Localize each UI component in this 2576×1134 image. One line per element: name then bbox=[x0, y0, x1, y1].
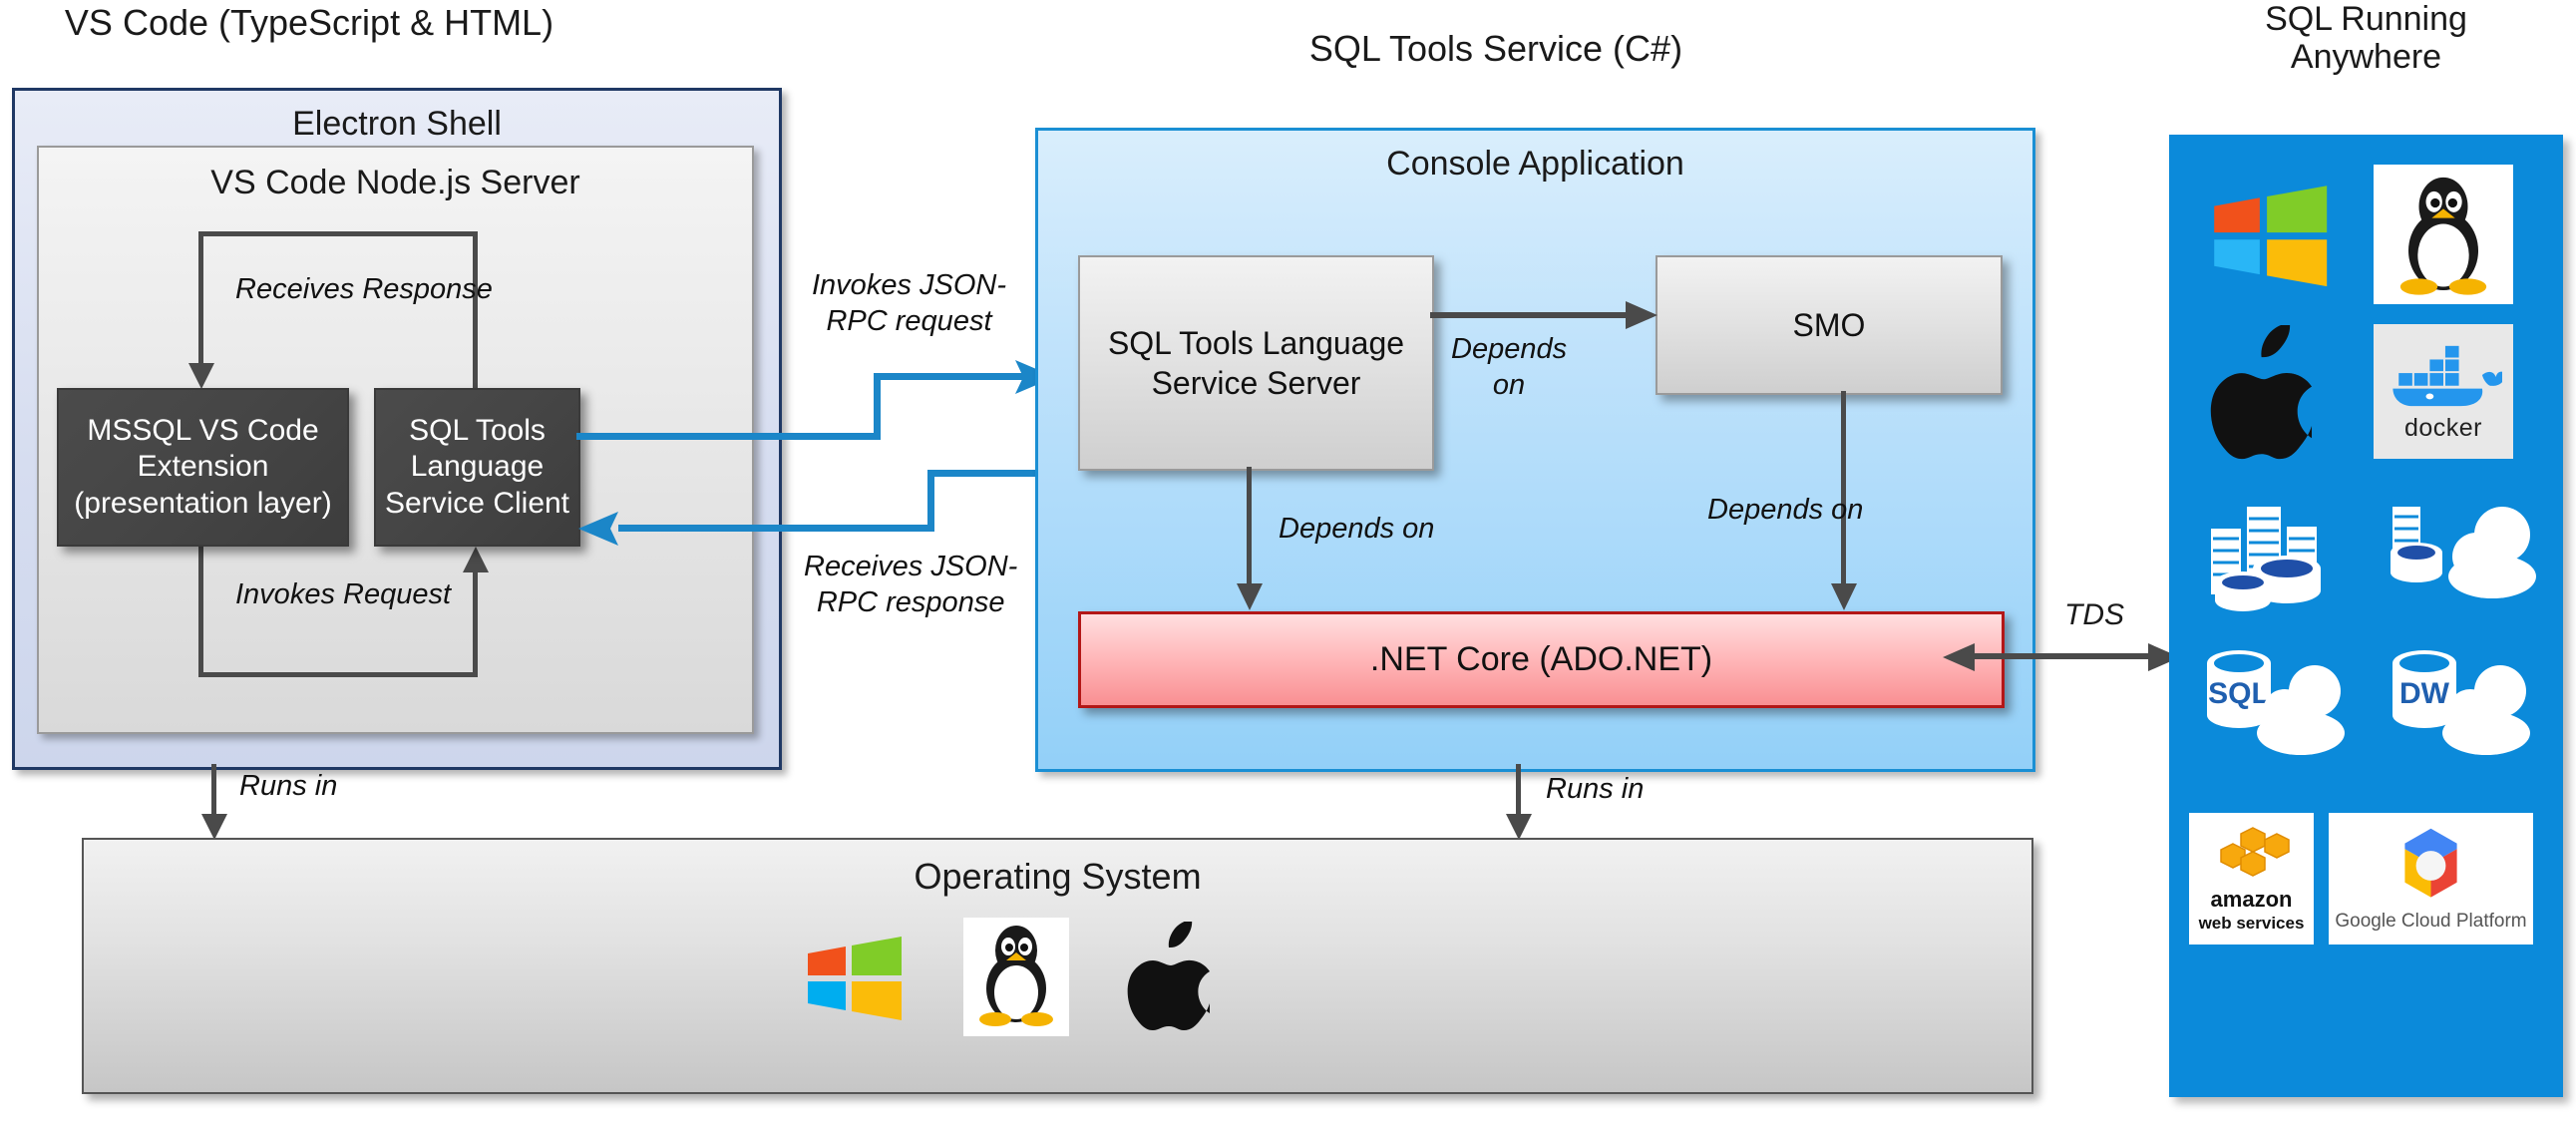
invokes-request-arrow-vert-left bbox=[198, 543, 203, 677]
invokes-request-label: Invokes Request bbox=[235, 578, 451, 611]
invokes-json-rpc-request-seg-v bbox=[874, 373, 881, 439]
electron-shell-title: Electron Shell bbox=[15, 105, 779, 144]
depends-on-smo-label: Dependson bbox=[1451, 331, 1567, 404]
depends-on-netcore-right-line bbox=[1841, 391, 1846, 590]
depends-on-netcore-right-label: Depends on bbox=[1707, 494, 1863, 527]
invokes-request-arrow-horiz bbox=[198, 672, 478, 677]
tds-arrowhead-left bbox=[1943, 641, 1979, 673]
anywhere-tile-apple bbox=[2189, 319, 2349, 469]
docker-logo bbox=[2385, 340, 2502, 412]
receives-response-label: Receives Response bbox=[235, 273, 493, 306]
receives-json-rpc-response-arrowhead bbox=[578, 509, 620, 549]
depends-on-netcore-left-label: Depends on bbox=[1279, 513, 1434, 546]
anywhere-tile-azure-sql-db: SQL bbox=[2183, 633, 2363, 768]
receives-json-rpc-response-seg-h1 bbox=[927, 470, 1039, 477]
depends-on-smo-arrow-line bbox=[1430, 312, 1633, 318]
apple-logo bbox=[1127, 922, 1223, 1033]
anywhere-tile-gcp: Google Cloud Platform bbox=[2329, 813, 2533, 945]
anywhere-tile-linux bbox=[2374, 165, 2513, 304]
net-core-ado-net-box[interactable]: .NET Core (ADO.NET) bbox=[1078, 611, 2005, 708]
anywhere-tile-aws: amazonweb services bbox=[2189, 813, 2314, 945]
linux-penguin-logo bbox=[2388, 173, 2499, 296]
receives-response-arrow-horiz bbox=[198, 231, 478, 236]
sql-tools-service-section-title: SQL Tools Service (C#) bbox=[1097, 28, 1895, 69]
anywhere-tile-sql-on-prem bbox=[2183, 479, 2358, 623]
invokes-json-rpc-request-label: Invokes JSON-RPC request bbox=[812, 267, 1006, 340]
receives-json-rpc-response-seg-h2 bbox=[618, 525, 934, 532]
runs-in-left-label: Runs in bbox=[239, 770, 337, 803]
anywhere-tile-docker: docker bbox=[2374, 324, 2513, 459]
tds-arrow-line bbox=[1960, 653, 2169, 659]
sql-running-anywhere-line2: Anywhere bbox=[2154, 38, 2576, 76]
apple-logo bbox=[2210, 325, 2328, 463]
azure-sql-db-icon: SQL bbox=[2189, 641, 2357, 761]
google-cloud-platform-icon bbox=[2384, 825, 2478, 907]
invokes-request-arrow-vert-right bbox=[473, 568, 478, 677]
tds-label: TDS bbox=[2064, 598, 2124, 632]
sql-tools-language-service-server-label: SQL Tools Language Service Server bbox=[1080, 323, 1432, 403]
operating-system-logos bbox=[802, 918, 1223, 1036]
gcp-wordmark: Google Cloud Platform bbox=[2335, 911, 2526, 933]
net-core-ado-net-label: .NET Core (ADO.NET) bbox=[1370, 640, 1712, 679]
vscode-node-server-title: VS Code Node.js Server bbox=[39, 164, 752, 202]
sql-running-anywhere-line1: SQL Running bbox=[2154, 0, 2576, 38]
receives-response-arrow-vert-right bbox=[473, 231, 478, 388]
anywhere-tile-sql-cloud-vm bbox=[2367, 479, 2551, 623]
windows-logo bbox=[2207, 173, 2332, 297]
sql-tools-language-service-client-box[interactable]: SQL Tools Language Service Client bbox=[374, 388, 580, 547]
receives-response-arrow-vert-left bbox=[198, 231, 203, 371]
sql-tools-language-service-server-box[interactable]: SQL Tools Language Service Server bbox=[1078, 255, 1434, 471]
depends-on-smo-arrowhead bbox=[1626, 299, 1659, 331]
sql-server-cloud-vm-icon bbox=[2375, 489, 2544, 613]
console-application-title: Console Application bbox=[1038, 145, 2032, 184]
operating-system-container: Operating System bbox=[82, 838, 2033, 1094]
sql-running-anywhere-title: SQL Running Anywhere bbox=[2154, 0, 2576, 76]
anywhere-tile-windows bbox=[2189, 165, 2349, 304]
invokes-json-rpc-request-seg-h1 bbox=[576, 433, 881, 440]
invokes-json-rpc-request-seg-h2 bbox=[874, 373, 1035, 380]
smo-label: SMO bbox=[1793, 305, 1866, 345]
smo-box[interactable]: SMO bbox=[1656, 255, 2003, 395]
anywhere-tile-azure-sql-dw: DW bbox=[2369, 633, 2548, 768]
mssql-vscode-extension-label: MSSQL VS Code Extension (presentation la… bbox=[59, 413, 347, 523]
sql-tools-language-service-client-label: SQL Tools Language Service Client bbox=[376, 413, 578, 523]
aws-cubes-icon bbox=[2211, 826, 2293, 886]
linux-penguin-logo bbox=[968, 923, 1064, 1026]
sql-running-anywhere-panel: docker bbox=[2169, 135, 2563, 1097]
receives-json-rpc-response-seg-v bbox=[927, 470, 934, 532]
depends-on-netcore-left-arrowhead bbox=[1235, 583, 1265, 613]
aws-wordmark: amazonweb services bbox=[2199, 889, 2305, 933]
vscode-section-title: VS Code (TypeScript & HTML) bbox=[0, 2, 618, 43]
depends-on-netcore-left-line bbox=[1247, 467, 1252, 590]
operating-system-title: Operating System bbox=[84, 856, 2031, 898]
linux-penguin-logo-tile bbox=[963, 918, 1069, 1036]
svg-text:SQL: SQL bbox=[2208, 677, 2270, 710]
invokes-request-arrowhead bbox=[461, 545, 491, 574]
depends-on-netcore-right-arrowhead bbox=[1829, 583, 1859, 613]
runs-in-right-label: Runs in bbox=[1546, 773, 1644, 806]
windows-logo bbox=[802, 926, 906, 1029]
receives-json-rpc-response-label: Receives JSON-RPC response bbox=[804, 549, 1017, 621]
docker-label: docker bbox=[2404, 414, 2482, 443]
mssql-vscode-extension-box[interactable]: MSSQL VS Code Extension (presentation la… bbox=[57, 388, 349, 547]
azure-sql-dw-icon: DW bbox=[2375, 641, 2542, 761]
svg-text:DW: DW bbox=[2399, 677, 2450, 710]
sql-server-on-prem-icon bbox=[2191, 487, 2351, 616]
